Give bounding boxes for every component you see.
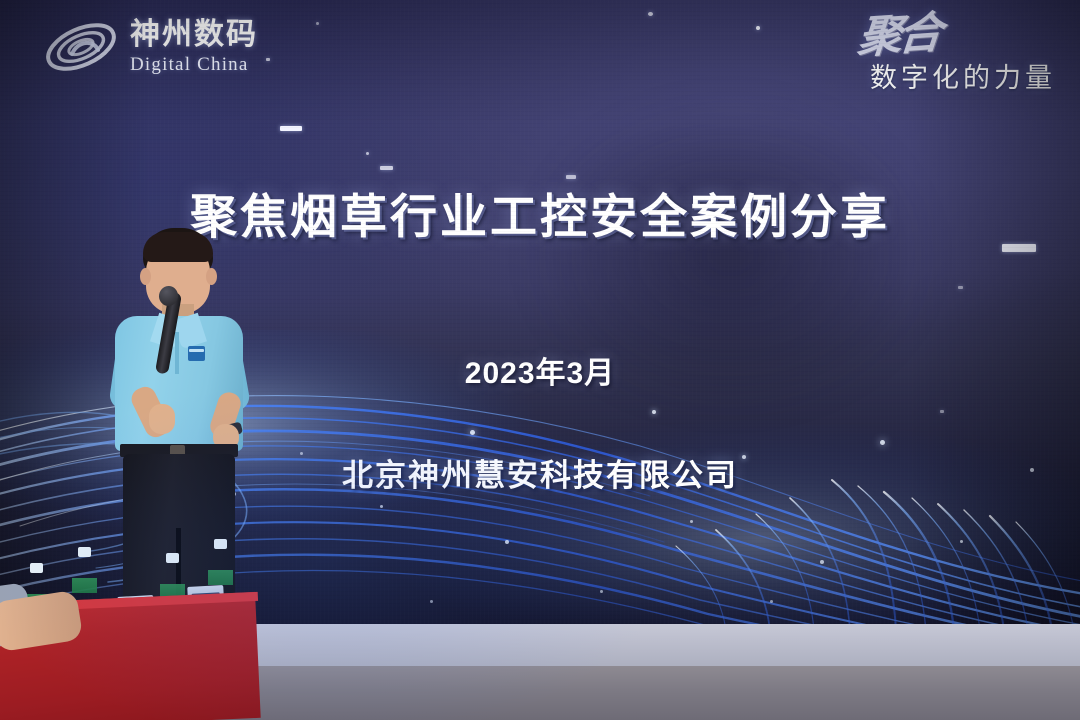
event-slogan: 聚合 数字化的力量 (858, 18, 1056, 95)
decor-dash-icon (648, 12, 653, 16)
decor-dash-icon (380, 166, 393, 170)
brand-name-en: Digital China (130, 55, 258, 74)
decor-dash-icon (316, 22, 319, 25)
decor-dash-icon (958, 286, 963, 289)
decor-dash-icon (756, 26, 760, 30)
slogan-subtitle: 数字化的力量 (858, 56, 1056, 95)
brand-name-cn: 神州数码 (130, 20, 258, 50)
ear-left (140, 268, 151, 285)
hair-front (143, 232, 213, 262)
decor-dash-icon (266, 58, 270, 61)
decor-dash-icon (366, 152, 369, 155)
decor-dash-icon (940, 410, 944, 413)
decor-dash-icon (280, 126, 302, 131)
hand-left (149, 404, 175, 434)
shirt-logo-badge-stripe (189, 349, 204, 352)
ear-right (206, 268, 217, 285)
slogan-calligraphy: 聚合 (856, 15, 940, 57)
shirt-placket (175, 332, 179, 374)
presenter-figure (96, 228, 286, 648)
conference-stage-photo: 神州数码 Digital China 聚合 数字化的力量 聚焦烟草行业工控安全案… (0, 0, 1080, 720)
digital-china-logo: 神州数码 Digital China (42, 16, 258, 78)
spiral-galaxy-logo-icon (42, 16, 120, 78)
